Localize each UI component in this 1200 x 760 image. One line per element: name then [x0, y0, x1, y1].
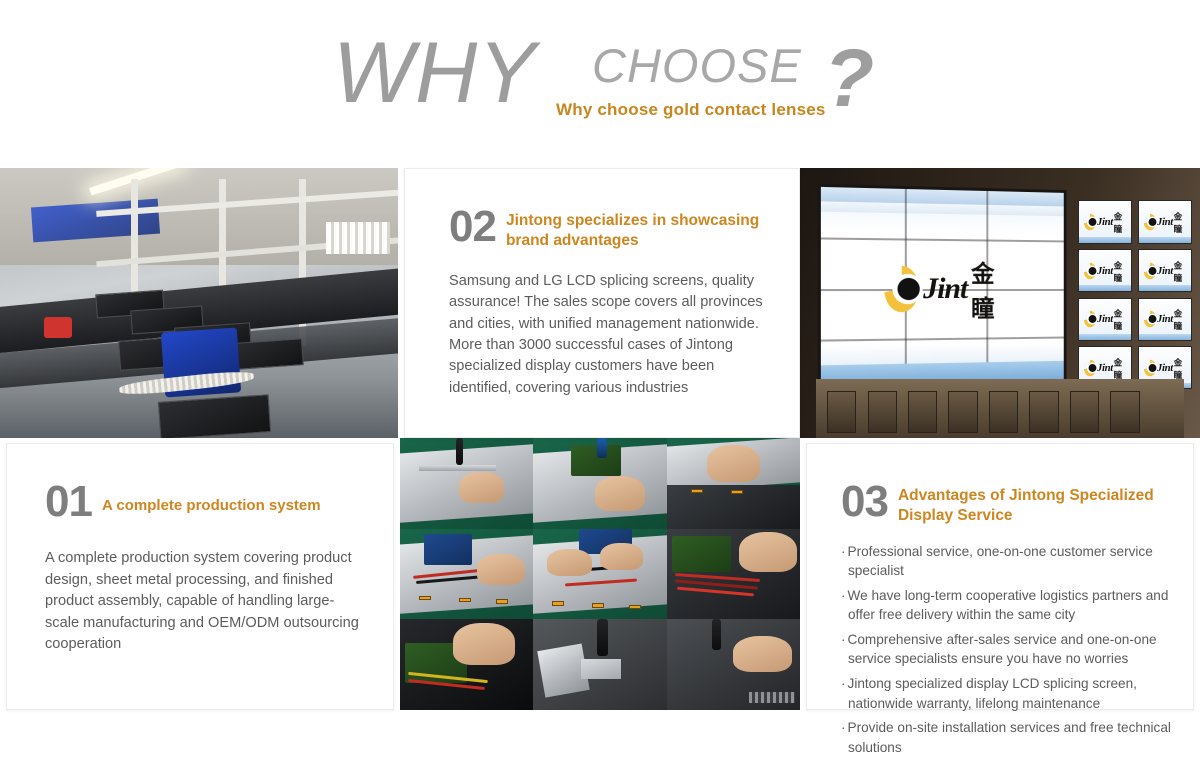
videowall-bezel-line: [821, 237, 1064, 242]
videowall-side-screen: Jint金瞳: [1138, 298, 1192, 341]
grid-photo-cell: [400, 619, 533, 710]
factory-red-bucket: [44, 317, 72, 339]
card-02-heading: Jintong specializes in showcasing brand …: [496, 207, 769, 251]
videowall-side-screen: Jint金瞳: [1138, 249, 1192, 292]
card-03-bullet-list: Professional service, one-on-one custome…: [841, 542, 1179, 758]
card-01-body: A complete production system covering pr…: [45, 548, 363, 655]
videowall-main-screen: Jint 金瞳: [821, 187, 1064, 390]
video-wall-image: Jint 金瞳 Jint金瞳 Jint金瞳 Jint金瞳 Jint金瞳 Jint…: [800, 168, 1200, 438]
videowall-side-screen: Jint金瞳: [1078, 200, 1132, 243]
factory-assembly-line-image: [0, 168, 398, 438]
card-02-number: 02: [449, 207, 496, 247]
videowall-side-screen: Jint金瞳: [1078, 298, 1132, 341]
grid-photo-cell: [400, 438, 533, 529]
grid-photo-cell: [533, 438, 666, 529]
card-03-heading: Advantages of Jintong Specialized Displa…: [888, 482, 1179, 526]
card-02-body: Samsung and LG LCD splicing screens, qua…: [449, 271, 769, 400]
question-mark-icon: ?: [824, 38, 874, 120]
assembly-process-photo-grid: [400, 438, 800, 710]
videowall-bezel-line: [821, 336, 1064, 341]
card-03-bullet-item: We have long-term cooperative logistics …: [841, 586, 1179, 625]
feature-card-03: 03 Advantages of Jintong Specialized Dis…: [806, 443, 1194, 710]
grid-photo-cell: [533, 529, 666, 620]
eye-icon: [884, 265, 919, 312]
feature-card-01: 01 A complete production system A comple…: [6, 443, 394, 710]
logo-wordmark: Jint: [923, 271, 967, 305]
header-choose-text: CHOOSE: [592, 42, 802, 89]
page-header: WHY CHOOSE Why choose gold contact lense…: [0, 0, 1200, 168]
factory-panel: [158, 394, 272, 438]
header-subtitle: Why choose gold contact lenses: [556, 100, 826, 120]
videowall-cabinet: [816, 379, 1184, 438]
card-03-header-row: 03 Advantages of Jintong Specialized Dis…: [841, 482, 1179, 526]
card-03-bullet-item: Provide on-site installation services an…: [841, 718, 1179, 757]
card-01-heading: A complete production system: [92, 482, 321, 515]
card-03-number: 03: [841, 482, 888, 522]
header-why-text: WHY: [333, 30, 537, 116]
why-choose-page: WHY CHOOSE Why choose gold contact lense…: [0, 0, 1200, 760]
grid-photo-cell: [667, 438, 800, 529]
factory-supplies: [326, 222, 390, 254]
videowall-side-screen: Jint金瞳: [1138, 200, 1192, 243]
grid-photo-cell: [400, 529, 533, 620]
card-03-bullet-item: Jintong specialized display LCD splicing…: [841, 674, 1179, 713]
card-01-number: 01: [45, 482, 92, 522]
card-03-bullet-item: Comprehensive after-sales service and on…: [841, 630, 1179, 669]
card-01-header-row: 01 A complete production system: [45, 482, 363, 522]
grid-photo-cell: [533, 619, 666, 710]
videowall-side-screen: Jint金瞳: [1078, 249, 1132, 292]
grid-photo-cell: [667, 619, 800, 710]
grid-photo-cell: [667, 529, 800, 620]
jint-logo: Jint 金瞳: [884, 253, 1006, 324]
card-03-bullet-item: Professional service, one-on-one custome…: [841, 542, 1179, 581]
logo-chinese-name: 金瞳: [971, 253, 1006, 323]
card-02-header-row: 02 Jintong specializes in showcasing bra…: [449, 207, 769, 251]
feature-card-02: 02 Jintong specializes in showcasing bra…: [404, 168, 800, 438]
